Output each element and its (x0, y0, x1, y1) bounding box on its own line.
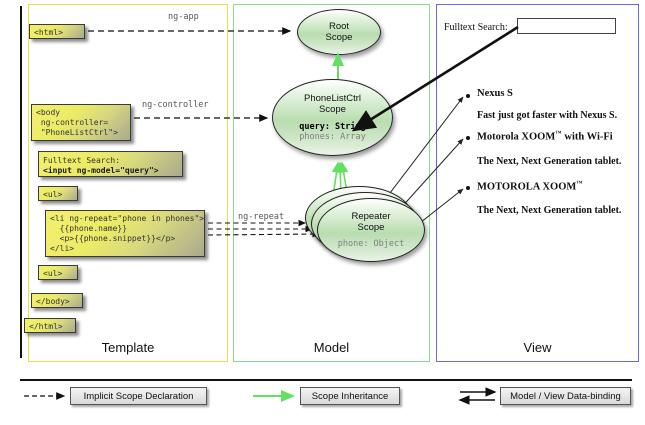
view-item-title-1: Motorola XOOM™ with Wi-Fi (477, 130, 613, 143)
view-item-title-text-1: Motorola XOOM (477, 132, 555, 143)
fulltext-search-box: Fulltext Search: <input ng-model="query"… (38, 151, 183, 177)
ul-open-box: <ul> (38, 186, 78, 201)
view-bullet-0 (466, 94, 470, 98)
li-repeat-box: <li ng-repeat="phone in phones"> {{phone… (45, 210, 205, 257)
body-box: <body ng-controller= "PhoneListCtrl"> (31, 104, 131, 141)
view-item-title-2: MOTOROLA XOOM™ (477, 180, 583, 193)
diagram-root: Template Model View <html> <body ng-cont… (0, 0, 645, 425)
repeater-scope-line2: Scope (358, 222, 385, 233)
fulltext-search-input[interactable] (517, 18, 616, 34)
view-item-title-suffix-1: with Wi-Fi (562, 132, 613, 143)
legend-data-binding: Model / View Data-binding (500, 387, 631, 405)
legend-separator (20, 379, 632, 381)
repeater-scope-line1: Repeater (351, 211, 390, 222)
phonelistctrl-scope-line2: Scope (319, 104, 346, 115)
legend-glyph-databinding (460, 392, 495, 400)
view-item-title-text-0: Nexus S (477, 88, 513, 99)
column-template: Template (28, 4, 228, 362)
edge-label-ng-controller: ng-controller (140, 100, 211, 110)
column-label-view: View (437, 340, 638, 355)
view-item-title-text-2: MOTOROLA XOOM (477, 182, 576, 193)
html-close-box: </html> (24, 318, 76, 333)
phonelistctrl-scope-line1: PhoneListCtrl (304, 93, 361, 104)
repeater-scope-ellipse: Repeater Scope phone: Object (317, 198, 425, 262)
column-label-model: Model (234, 340, 429, 355)
view-bullet-1 (466, 136, 470, 140)
legend-implicit-scope: Implicit Scope Declaration (70, 387, 207, 405)
root-scope-ellipse: Root Scope (297, 9, 381, 55)
fulltext-search-line2: <input ng-model="query"> (43, 166, 159, 175)
column-model: Model (233, 4, 430, 362)
edge-label-ng-repeat: ng-repeat (236, 212, 286, 222)
phonelistctrl-scope-prop-query: query: String (299, 122, 366, 132)
left-vertical-rule (20, 6, 22, 358)
body-close-box: </body> (31, 293, 83, 308)
phonelistctrl-scope-prop-phones: phones: Array (299, 132, 366, 142)
edge-label-ng-app: ng-app (166, 12, 201, 22)
phonelistctrl-scope-ellipse: PhoneListCtrl Scope query: String phones… (272, 79, 393, 156)
view-search-label: Fulltext Search: (444, 22, 508, 33)
trademark-icon-2: ™ (576, 180, 583, 187)
html-open-box: <html> (29, 24, 85, 39)
column-label-template: Template (29, 340, 227, 355)
view-item-title-0: Nexus S (477, 88, 513, 99)
fulltext-search-line1: Fulltext Search: (43, 156, 120, 165)
view-item-snippet-1: The Next, Next Generation tablet. (477, 156, 621, 167)
root-scope-line2: Scope (326, 32, 353, 43)
repeater-scope-prop-phone: phone: Object (338, 239, 405, 249)
root-scope-line1: Root (329, 21, 349, 32)
view-bullet-2 (466, 186, 470, 190)
ul-close-box: <ul> (38, 265, 78, 280)
view-item-snippet-0: Fast just got faster with Nexus S. (477, 110, 617, 121)
view-item-snippet-2: The Next, Next Generation tablet. (477, 205, 621, 216)
legend-scope-inheritance: Scope Inheritance (300, 387, 400, 405)
